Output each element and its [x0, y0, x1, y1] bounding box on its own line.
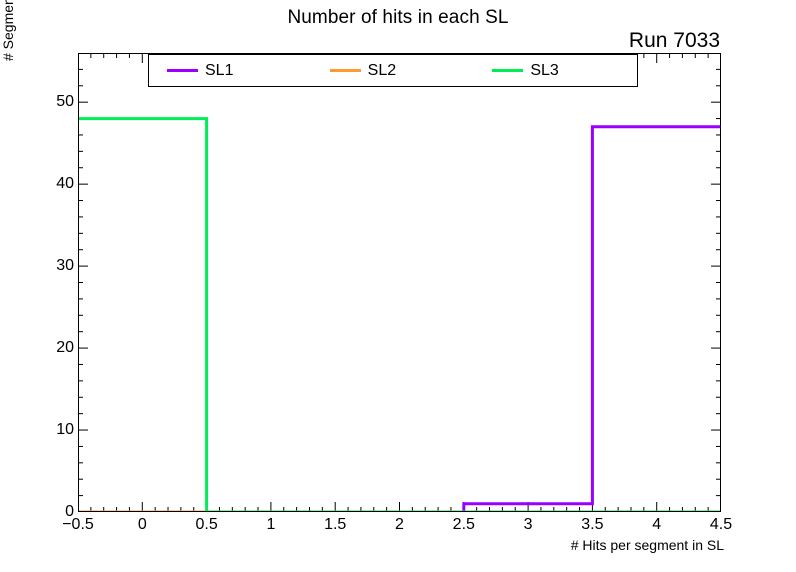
x-axis-tick-label: −0.5: [62, 516, 94, 534]
x-axis-tick-label: 1: [266, 516, 275, 534]
legend-label: SL1: [205, 63, 233, 79]
x-axis-tick-label: 4: [652, 516, 661, 534]
x-axis-tick-label: 2: [395, 516, 404, 534]
legend-swatch-icon: [330, 69, 361, 72]
x-axis-tick-label: 2.5: [453, 516, 475, 534]
x-axis-title: # Hits per segment in SL: [571, 537, 724, 553]
x-axis-tick-label: 4.5: [710, 516, 732, 534]
legend-label: SL2: [368, 63, 396, 79]
plot-svg: [78, 53, 721, 512]
legend-swatch-icon: [492, 69, 523, 72]
x-axis-tick-label: 1.5: [324, 516, 346, 534]
y-axis-tick-label: 30: [56, 258, 74, 274]
plot-area: [78, 53, 721, 512]
legend-entry-sl1[interactable]: SL1: [149, 63, 312, 79]
y-axis-tick-label: 50: [56, 94, 74, 110]
y-axis-tick-label: 40: [56, 176, 74, 192]
run-number-annotation: Run 7033: [629, 29, 720, 53]
legend-swatch-icon: [167, 69, 198, 72]
y-axis-tick-label: 10: [56, 422, 74, 438]
legend-entry-sl3[interactable]: SL3: [474, 63, 637, 79]
y-axis-title-text: # Segments: [0, 0, 16, 61]
legend: SL1SL2SL3: [148, 54, 638, 87]
legend-label: SL3: [530, 63, 558, 79]
series-line-sl1: [78, 127, 721, 512]
x-axis-tick-label: 0.5: [195, 516, 217, 534]
x-axis-tick-label: 3.5: [581, 516, 603, 534]
x-axis-tick-label: 3: [524, 516, 533, 534]
chart-title: Number of hits in each SL: [0, 6, 796, 30]
chart-canvas: Number of hits in each SL Run 7033 # Seg…: [0, 0, 796, 572]
x-axis-tick-label: 0: [138, 516, 147, 534]
legend-entry-sl2[interactable]: SL2: [312, 63, 475, 79]
series-line-sl3: [78, 119, 721, 512]
y-axis-tick-label: 20: [56, 340, 74, 356]
